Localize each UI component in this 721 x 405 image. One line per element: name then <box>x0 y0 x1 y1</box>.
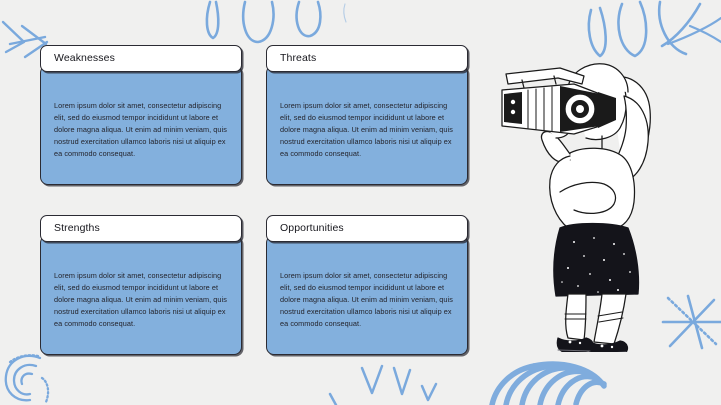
card-body-strengths: Lorem ipsum dolor sit amet, consectetur … <box>40 235 242 355</box>
card-body-weaknesses: Lorem ipsum dolor sit amet, consectetur … <box>40 65 242 185</box>
left-leg <box>566 294 586 340</box>
swot-card-weaknesses[interactable]: Weaknesses Lorem ipsum dolor sit amet, c… <box>40 45 242 185</box>
right-leg <box>594 294 626 344</box>
swot-card-threats[interactable]: Threats Lorem ipsum dolor sit amet, cons… <box>266 45 468 185</box>
slide-canvas: Weaknesses Lorem ipsum dolor sit amet, c… <box>0 0 721 405</box>
skirt <box>554 224 639 297</box>
card-text: Lorem ipsum dolor sit amet, consectetur … <box>54 100 227 159</box>
card-header-strengths: Strengths <box>40 215 242 242</box>
card-body-threats: Lorem ipsum dolor sit amet, consectetur … <box>266 65 468 185</box>
card-title: Threats <box>280 53 316 64</box>
card-header-opportunities: Opportunities <box>266 215 468 242</box>
card-text: Lorem ipsum dolor sit amet, consectetur … <box>280 270 453 329</box>
zigzag-doodle-bottom-center <box>330 366 436 405</box>
card-header-threats: Threats <box>266 45 468 72</box>
swot-card-opportunities[interactable]: Opportunities Lorem ipsum dolor sit amet… <box>266 215 468 355</box>
card-title: Weaknesses <box>54 53 115 64</box>
swot-grid: Weaknesses Lorem ipsum dolor sit amet, c… <box>40 45 468 355</box>
swot-card-strengths[interactable]: Strengths Lorem ipsum dolor sit amet, co… <box>40 215 242 355</box>
spiral-doodle-bottom-left <box>6 355 48 402</box>
card-header-weaknesses: Weaknesses <box>40 45 242 72</box>
card-text: Lorem ipsum dolor sit amet, consectetur … <box>54 270 227 329</box>
person-filming-with-camcorder-illustration <box>498 42 698 352</box>
card-title: Strengths <box>54 223 100 234</box>
card-text: Lorem ipsum dolor sit amet, consectetur … <box>280 100 453 159</box>
card-title: Opportunities <box>280 223 344 234</box>
loops-doodle-top-center <box>207 2 346 42</box>
card-body-opportunities: Lorem ipsum dolor sit amet, consectetur … <box>266 235 468 355</box>
scribble-blob-doodle-bottom-right <box>492 364 604 405</box>
